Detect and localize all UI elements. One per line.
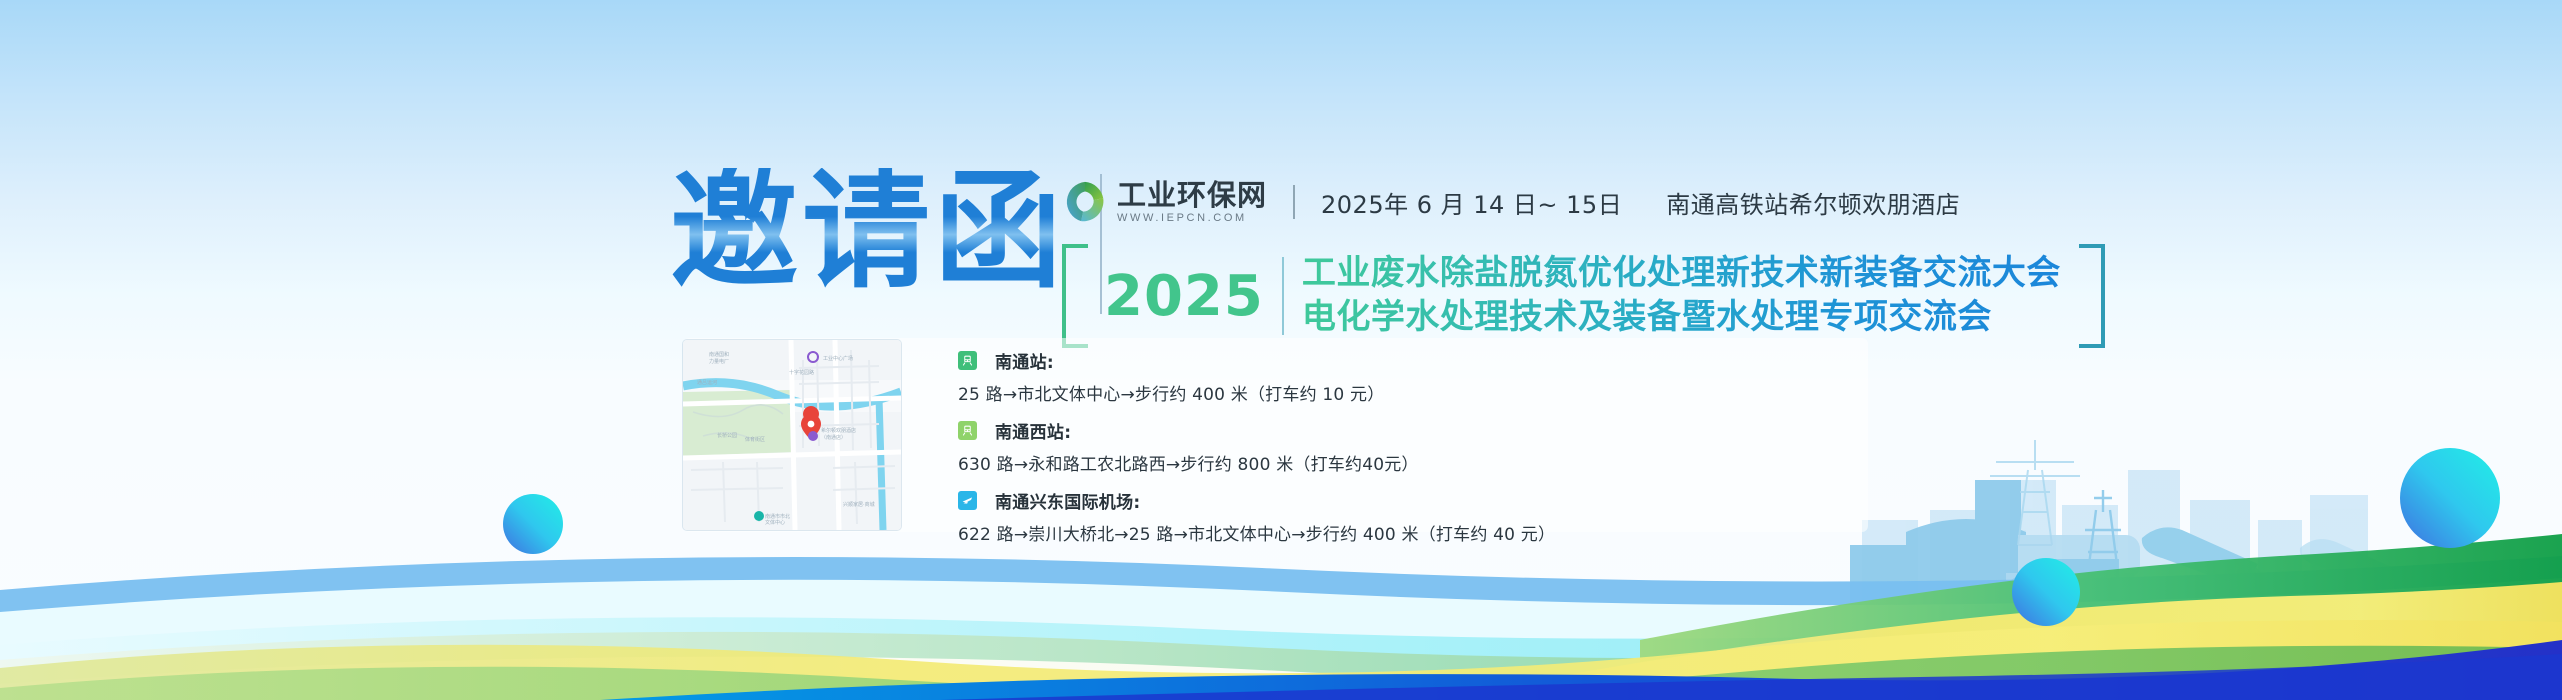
route-description: 25 路→市北文体中心→步行约 400 米（打车约 10 元） — [958, 380, 1858, 405]
svg-text:体育街区: 体育街区 — [745, 436, 765, 443]
brand-name-en: WWW.IEPCN.COM — [1117, 212, 1267, 224]
headline-line-2: 电化学水处理技术及装备暨水处理专项交流会 — [1302, 296, 2061, 340]
brand-name-cn: 工业环保网 — [1117, 180, 1267, 210]
invitation-title-row: 邀请函 — [670, 168, 1102, 314]
banner-stage: 邀请函 — [0, 0, 2562, 700]
train-icon — [958, 421, 977, 440]
headline-divider — [1282, 257, 1284, 335]
bracket-left-icon — [1062, 244, 1088, 348]
svg-text:通吕运河: 通吕运河 — [697, 379, 717, 386]
route-description: 622 路→崇川大桥北→25 路→市北文体中心→步行约 400 米（打车约 40… — [958, 520, 1858, 545]
route-header: 南通西站: — [958, 418, 1858, 443]
map-marker-poi-3 — [754, 511, 764, 521]
route-name: 南通西站: — [995, 418, 1071, 443]
route-name: 南通兴东国际机场: — [995, 488, 1141, 513]
svg-text:力量电厂: 力量电厂 — [709, 358, 729, 365]
brand-wordmark: 工业环保网 WWW.IEPCN.COM — [1117, 180, 1267, 224]
bracket-right-icon — [2079, 244, 2105, 348]
airplane-icon — [958, 491, 977, 510]
svg-text:文体中心: 文体中心 — [765, 519, 785, 526]
route-item: 南通兴东国际机场: 622 路→崇川大桥北→25 路→市北文体中心→步行约 40… — [958, 488, 1858, 545]
svg-text:长桥公园: 长桥公园 — [717, 432, 737, 439]
svg-text:希尔顿欢朋酒店: 希尔顿欢朋酒店 — [821, 427, 856, 434]
travel-routes-list: 南通站: 25 路→市北文体中心→步行约 400 米（打车约 10 元） — [958, 348, 1858, 545]
svg-text:十字花园路: 十字花园路 — [789, 369, 814, 376]
banner-content: 邀请函 — [0, 0, 2562, 700]
meta-divider — [1293, 185, 1295, 219]
event-date: 2025年 6 月 14 日~ 15日 — [1321, 185, 1622, 220]
iepcn-ring-logo-icon — [1062, 179, 1108, 225]
route-header: 南通站: — [958, 348, 1858, 373]
svg-text:南通市市北: 南通市市北 — [765, 513, 790, 520]
svg-text:（南通店）: （南通店） — [821, 434, 846, 441]
event-year: 2025 — [1104, 264, 1264, 329]
headline-row: 2025 工业废水除盐脱氮优化处理新技术新装备交流大会 电化学水处理技术及装备暨… — [1062, 244, 2105, 348]
location-map-thumbnail[interactable]: 南通国和 力量电厂 长桥公园 体育街区 工业中心广场 希尔顿欢朋酒店 （南通店）… — [683, 340, 901, 530]
route-name: 南通站: — [995, 348, 1054, 373]
svg-text:南通国和: 南通国和 — [709, 351, 729, 358]
train-icon — [958, 351, 977, 370]
event-info-block: 工业环保网 WWW.IEPCN.COM 2025年 6 月 14 日~ 15日 … — [1062, 176, 2105, 348]
svg-text:兴顺家居·商城: 兴顺家居·商城 — [843, 501, 875, 508]
brand-and-meta-row: 工业环保网 WWW.IEPCN.COM 2025年 6 月 14 日~ 15日 … — [1062, 176, 2105, 228]
map-marker-poi-1 — [808, 431, 818, 441]
headline-line-1: 工业废水除盐脱氮优化处理新技术新装备交流大会 — [1302, 252, 2061, 296]
route-item: 南通西站: 630 路→永和路工农北路西→步行约 800 米（打车约40元） — [958, 418, 1858, 475]
event-venue: 南通高铁站希尔顿欢朋酒店 — [1666, 185, 1960, 220]
route-item: 南通站: 25 路→市北文体中心→步行约 400 米（打车约 10 元） — [958, 348, 1858, 405]
route-header: 南通兴东国际机场: — [958, 488, 1858, 513]
svg-text:工业中心广场: 工业中心广场 — [823, 355, 853, 362]
route-description: 630 路→永和路工农北路西→步行约 800 米（打车约40元） — [958, 450, 1858, 475]
headline-text: 工业废水除盐脱氮优化处理新技术新装备交流大会 电化学水处理技术及装备暨水处理专项… — [1302, 252, 2061, 339]
page-title: 邀请函 — [670, 168, 1066, 296]
